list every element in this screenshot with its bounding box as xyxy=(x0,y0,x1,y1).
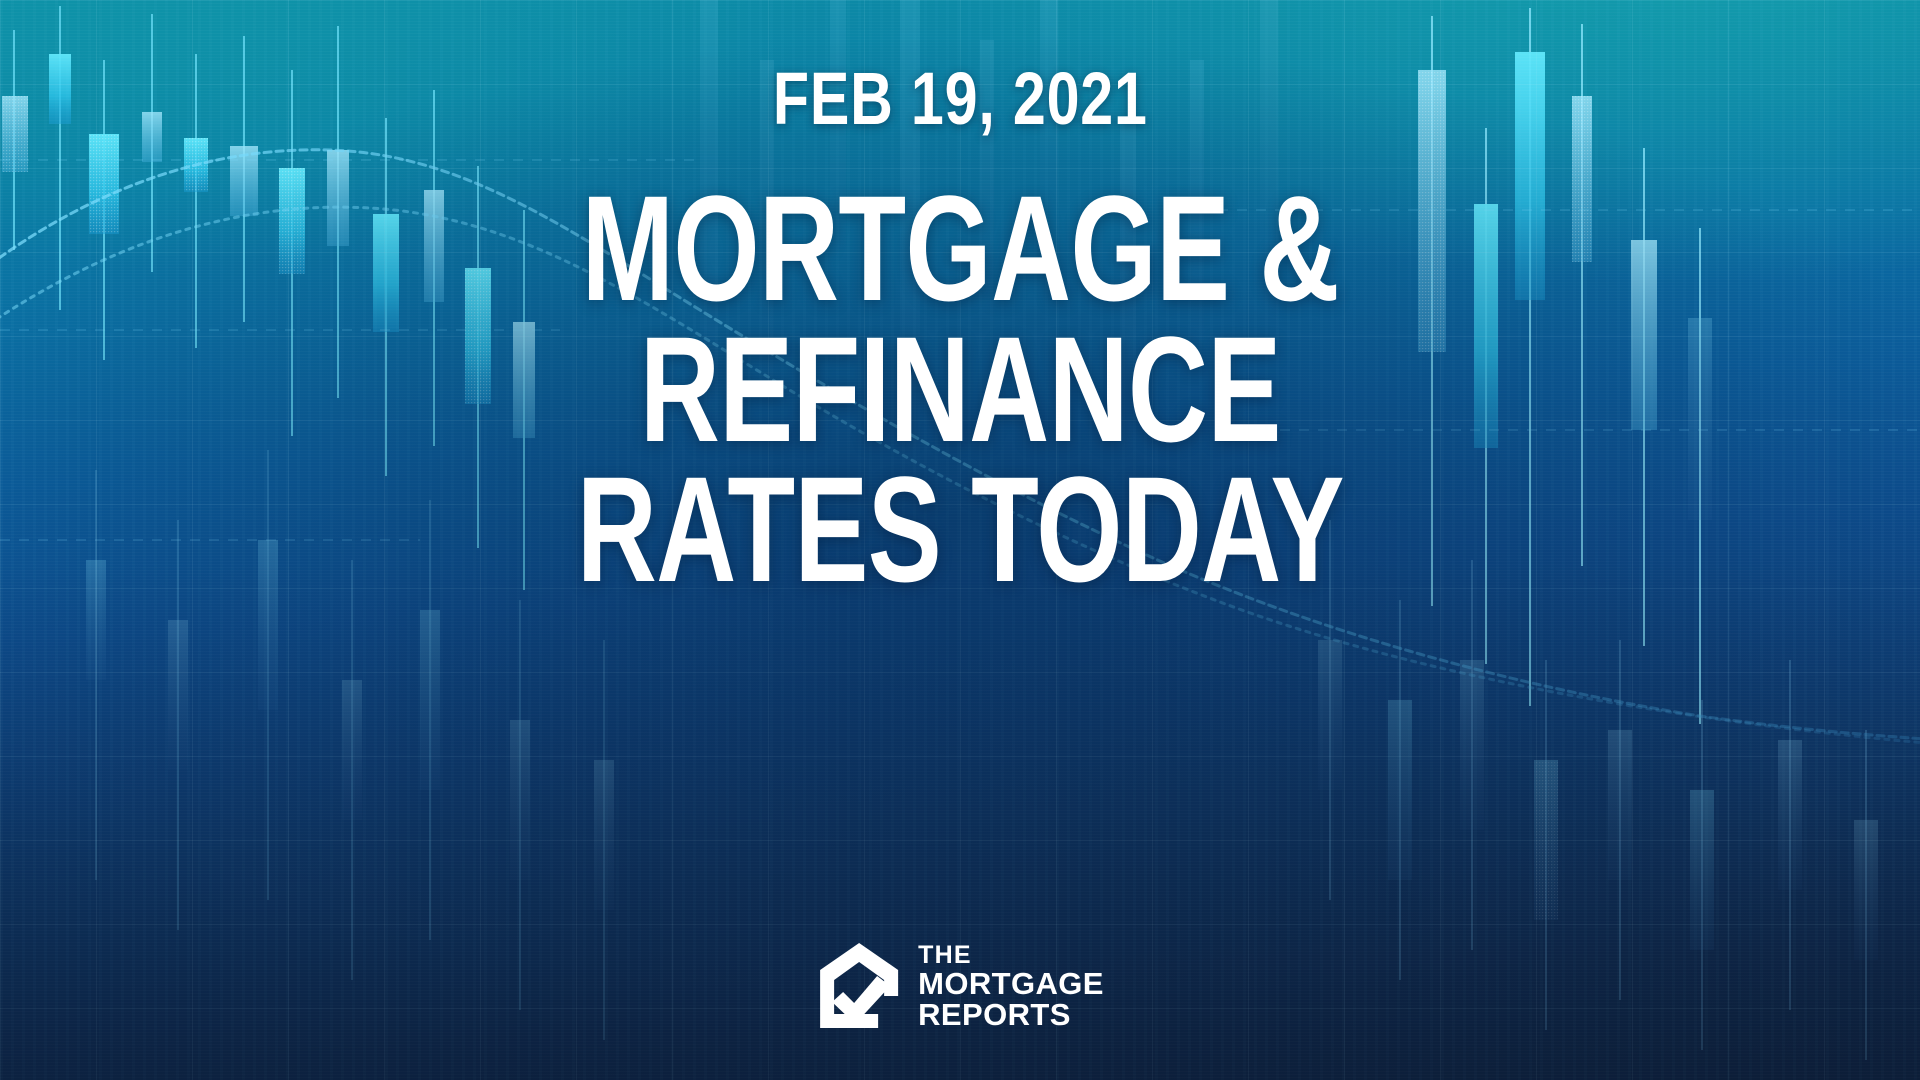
brand-logo[interactable]: THE MORTGAGE REPORTS xyxy=(816,940,1104,1032)
publication-date: FEB 19, 2021 xyxy=(773,62,1148,136)
brand-line-the: THE xyxy=(918,943,1104,968)
headline-line-1: MORTGAGE & xyxy=(577,174,1344,323)
banner-content: FEB 19, 2021 MORTGAGE & REFINANCE RATES … xyxy=(0,0,1920,1080)
brand-line-reports: REPORTS xyxy=(918,999,1104,1030)
brand-line-mortgage: MORTGAGE xyxy=(918,968,1104,999)
headline-line-3: RATES TODAY xyxy=(577,455,1344,604)
house-check-icon xyxy=(816,940,902,1032)
mortgage-rates-banner: FEB 19, 2021 MORTGAGE & REFINANCE RATES … xyxy=(0,0,1920,1080)
brand-wordmark: THE MORTGAGE REPORTS xyxy=(918,943,1104,1030)
page-title: MORTGAGE & REFINANCE RATES TODAY xyxy=(442,174,1478,604)
headline-line-2: REFINANCE xyxy=(577,315,1344,464)
